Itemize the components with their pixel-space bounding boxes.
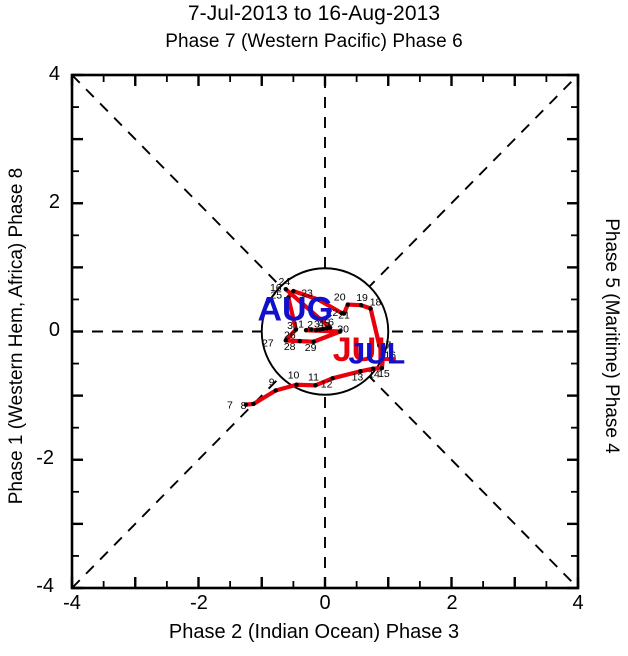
svg-text:8: 8 <box>241 400 247 412</box>
svg-text:29: 29 <box>305 342 317 354</box>
mjo-phase-diagram: 7-Jul-2013 to 16-Aug-2013 Phase 7 (Weste… <box>0 0 628 656</box>
plot-canvas: 7891011121314151617181920212223242526272… <box>0 0 628 656</box>
svg-text:7: 7 <box>227 400 233 412</box>
svg-text:JUL: JUL <box>349 338 406 371</box>
svg-text:28: 28 <box>284 341 296 353</box>
svg-text:20: 20 <box>334 292 346 304</box>
svg-text:10: 10 <box>288 370 300 382</box>
svg-text:18: 18 <box>370 296 382 308</box>
svg-text:12: 12 <box>321 378 333 390</box>
svg-text:11: 11 <box>308 371 319 383</box>
svg-text:27: 27 <box>262 337 274 349</box>
svg-text:19: 19 <box>356 292 368 304</box>
svg-text:AUG: AUG <box>257 291 333 329</box>
svg-text:21: 21 <box>338 310 350 322</box>
svg-text:9: 9 <box>269 376 275 388</box>
svg-text:13: 13 <box>352 371 364 383</box>
